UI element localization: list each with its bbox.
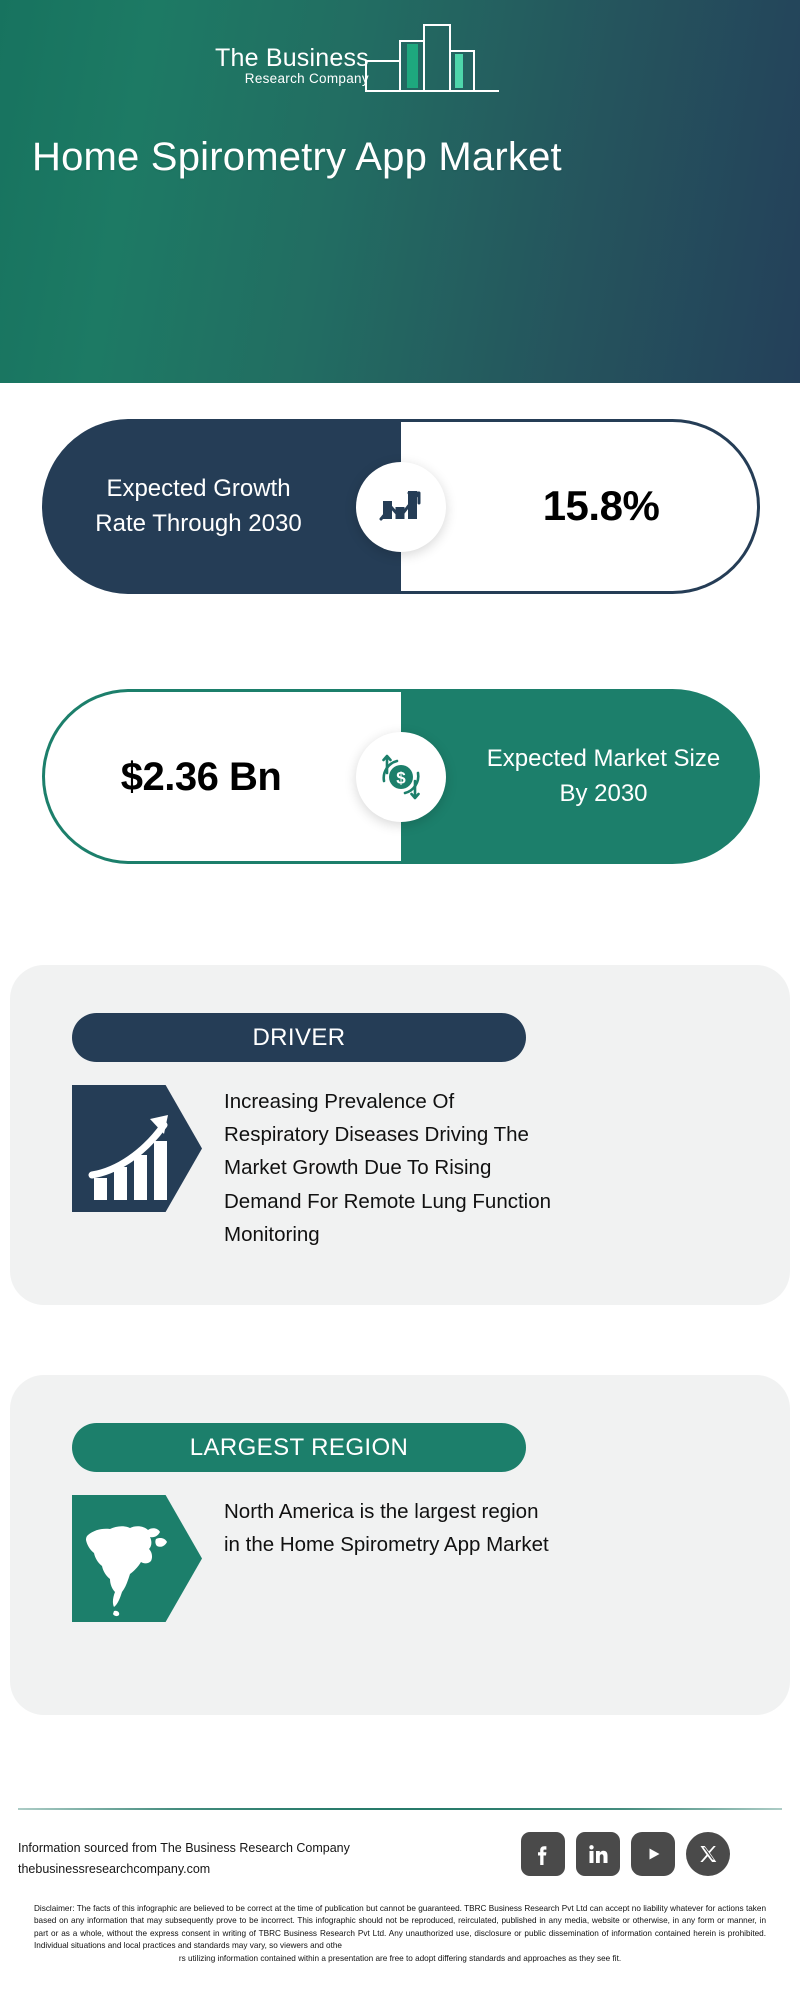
page-title: Home Spirometry App Market [32, 135, 562, 180]
x-twitter-icon[interactable] [686, 1832, 730, 1876]
infographic-page: The Business Research Company Home Spiro… [0, 0, 800, 2000]
driver-pill: DRIVER [72, 1013, 526, 1062]
bar-chart-growth-arrow-icon [72, 1085, 202, 1212]
largest-region-pill: LARGEST REGION [72, 1423, 526, 1472]
largest-region-text: North America is the largest region in t… [224, 1495, 554, 1622]
largest-region-body: North America is the largest region in t… [72, 1495, 750, 1622]
dollar-cycle-icon: $ [356, 732, 446, 822]
company-logo: The Business Research Company [215, 20, 520, 92]
stat-value-text: 15.8% [543, 481, 660, 531]
stat-value-text: $2.36 Bn [121, 753, 282, 801]
header-banner: The Business Research Company Home Spiro… [0, 0, 800, 383]
youtube-icon[interactable] [631, 1832, 675, 1876]
linkedin-icon[interactable] [576, 1832, 620, 1876]
stat-value-panel: $2.36 Bn [42, 689, 401, 864]
driver-pill-label: DRIVER [252, 1024, 345, 1052]
footer-source: Information sourced from The Business Re… [18, 1838, 350, 1879]
svg-text:$: $ [396, 768, 406, 787]
footer-source-line: Information sourced from The Business Re… [18, 1838, 350, 1859]
stat-label-panel: Expected Market Size By 2030 [401, 689, 760, 864]
footer-divider [18, 1808, 782, 1810]
stat-label-text: Expected Growth Rate Through 2030 [79, 472, 319, 542]
panel-largest-region: LARGEST REGION North America is the larg… [10, 1375, 790, 1715]
facebook-icon[interactable] [521, 1832, 565, 1876]
driver-text: Increasing Prevalence Of Respiratory Dis… [224, 1085, 554, 1251]
stat-label-panel: Expected Growth Rate Through 2030 [42, 419, 401, 594]
logo-line-secondary: Research Company [245, 71, 369, 88]
social-links [521, 1832, 730, 1876]
disclaimer-text: Disclaimer: The facts of this infographi… [34, 1903, 766, 1965]
stat-card-expected-growth-rate: Expected Growth Rate Through 2030 15.8% [42, 419, 760, 594]
disclaimer-main: Disclaimer: The facts of this infographi… [34, 1904, 766, 1950]
stat-value-panel: 15.8% [401, 419, 760, 594]
logo-line-primary: The Business [215, 46, 369, 72]
logo-text-block: The Business Research Company [215, 46, 369, 92]
largest-region-pill-label: LARGEST REGION [190, 1434, 409, 1462]
panel-driver: DRIVER Increasing Prevalence Of Respirat… [10, 965, 790, 1305]
bar-chart-logo-mark-icon [365, 20, 483, 92]
stat-label-text: Expected Market Size By 2030 [484, 742, 724, 812]
footer-website[interactable]: thebusinessresearchcompany.com [18, 1859, 350, 1880]
stat-card-expected-market-size: $2.36 Bn Expected Market Size By 2030 $ [42, 689, 760, 864]
north-america-map-icon [72, 1495, 202, 1622]
growth-chart-arrow-icon [356, 462, 446, 552]
disclaimer-last: rs utilizing information contained withi… [34, 1953, 766, 1965]
driver-body: Increasing Prevalence Of Respiratory Dis… [72, 1085, 750, 1251]
